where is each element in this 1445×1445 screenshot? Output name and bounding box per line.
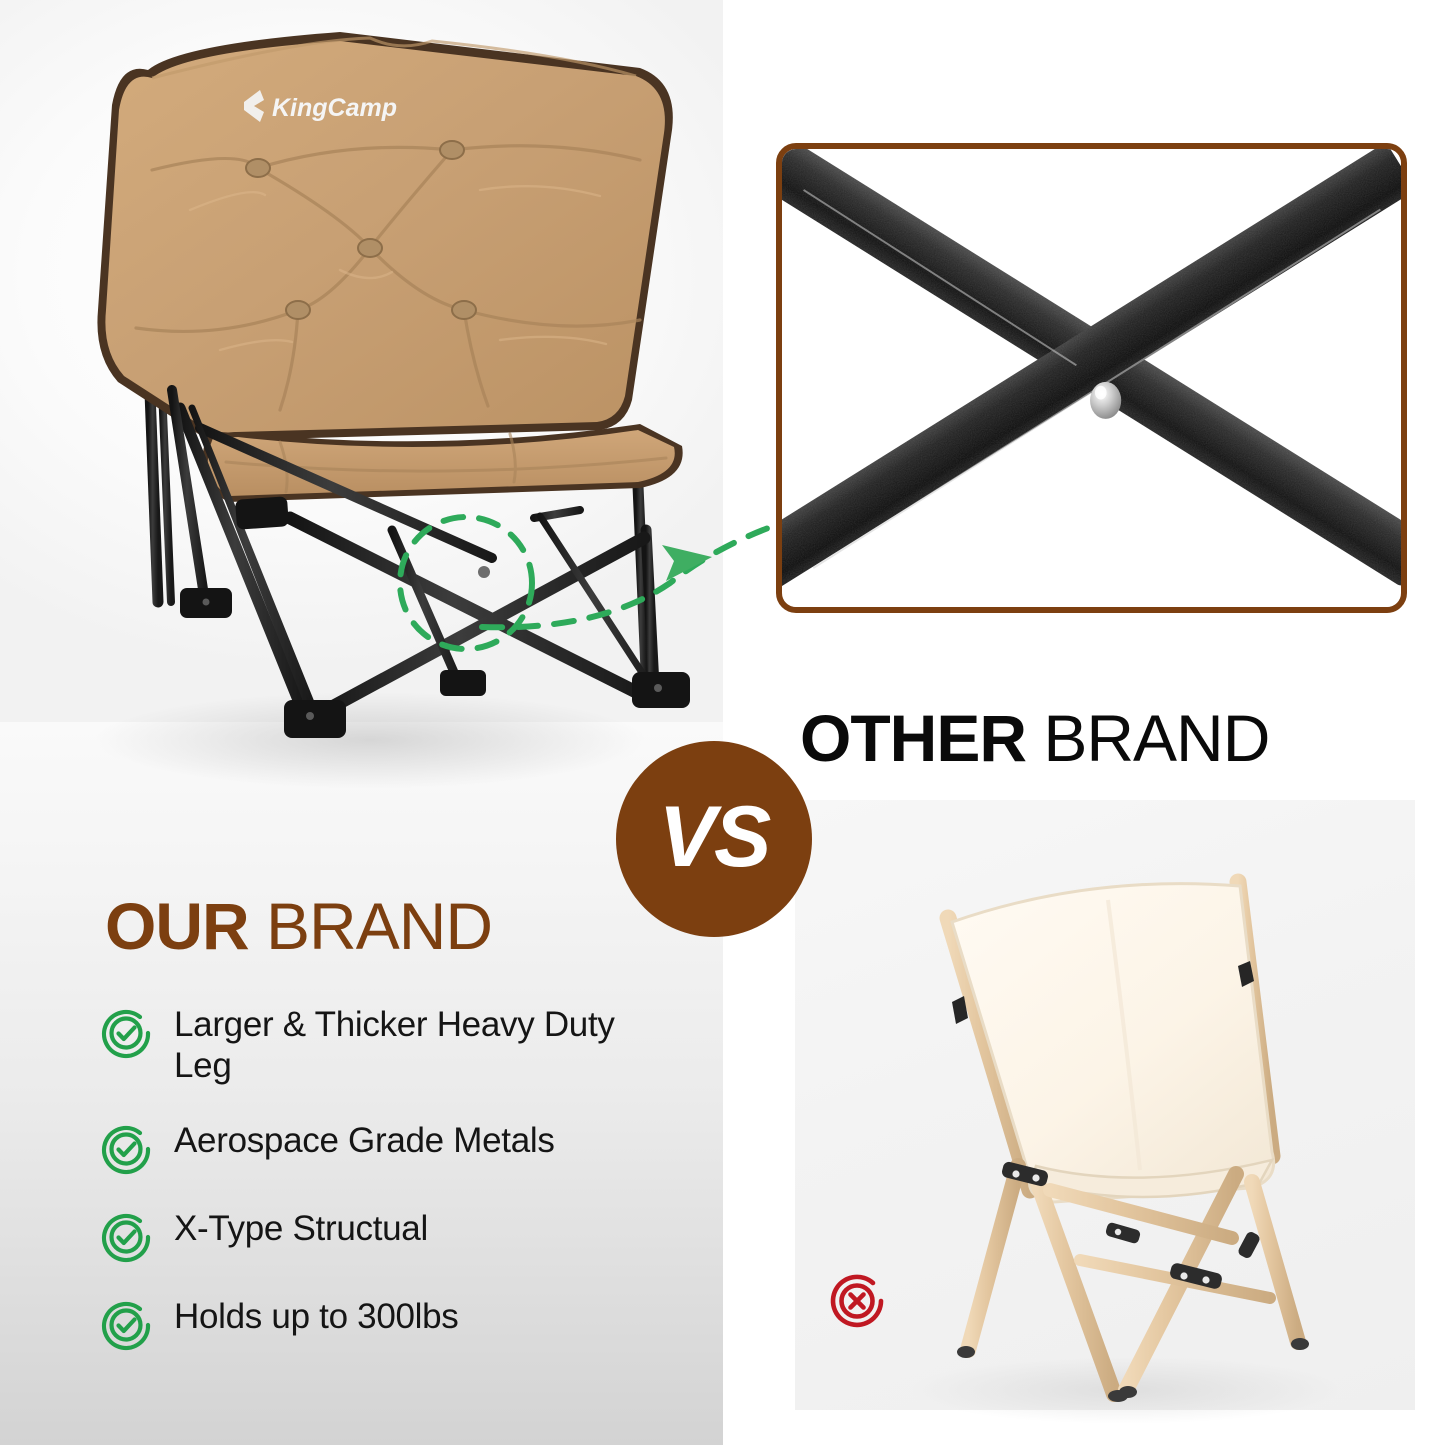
- check-circle-icon: [100, 1123, 152, 1175]
- our-brand-heading: OUR BRAND: [105, 893, 492, 959]
- infographic-canvas: KingCamp: [0, 0, 1445, 1445]
- other-brand-heading: OTHER BRAND: [800, 705, 1269, 771]
- check-circle-icon: [100, 1007, 152, 1059]
- feature-item: X-Type Structual: [100, 1209, 690, 1263]
- x-frame-detail-panel: [776, 143, 1407, 613]
- vs-label: VS: [659, 794, 770, 880]
- feature-item: Larger & Thicker Heavy Duty Leg: [100, 1005, 690, 1087]
- feature-label: Larger & Thicker Heavy Duty Leg: [174, 1005, 654, 1087]
- check-circle-icon: [100, 1211, 152, 1263]
- feature-label: X-Type Structual: [174, 1209, 428, 1250]
- feature-item: Aerospace Grade Metals: [100, 1121, 690, 1175]
- deny-circle-x-icon: [828, 1272, 886, 1330]
- our-brand-heading-strong: OUR: [105, 889, 249, 963]
- other-brand-product-image: [840, 830, 1400, 1430]
- other-brand-heading-strong: OTHER: [800, 701, 1026, 775]
- check-circle-icon: [100, 1299, 152, 1351]
- other-brand-heading-light: BRAND: [1043, 701, 1269, 775]
- feature-item: Holds up to 300lbs: [100, 1297, 690, 1351]
- our-brand-heading-light: BRAND: [266, 889, 492, 963]
- our-brand-product-image: KingCamp: [40, 10, 740, 800]
- vs-badge: VS: [616, 741, 812, 937]
- svg-text:KingCamp: KingCamp: [272, 94, 397, 122]
- feature-label: Aerospace Grade Metals: [174, 1121, 555, 1162]
- feature-label: Holds up to 300lbs: [174, 1297, 459, 1338]
- center-rivet: [1090, 382, 1121, 419]
- our-brand-feature-list: Larger & Thicker Heavy Duty Leg Aerospac…: [100, 1005, 690, 1351]
